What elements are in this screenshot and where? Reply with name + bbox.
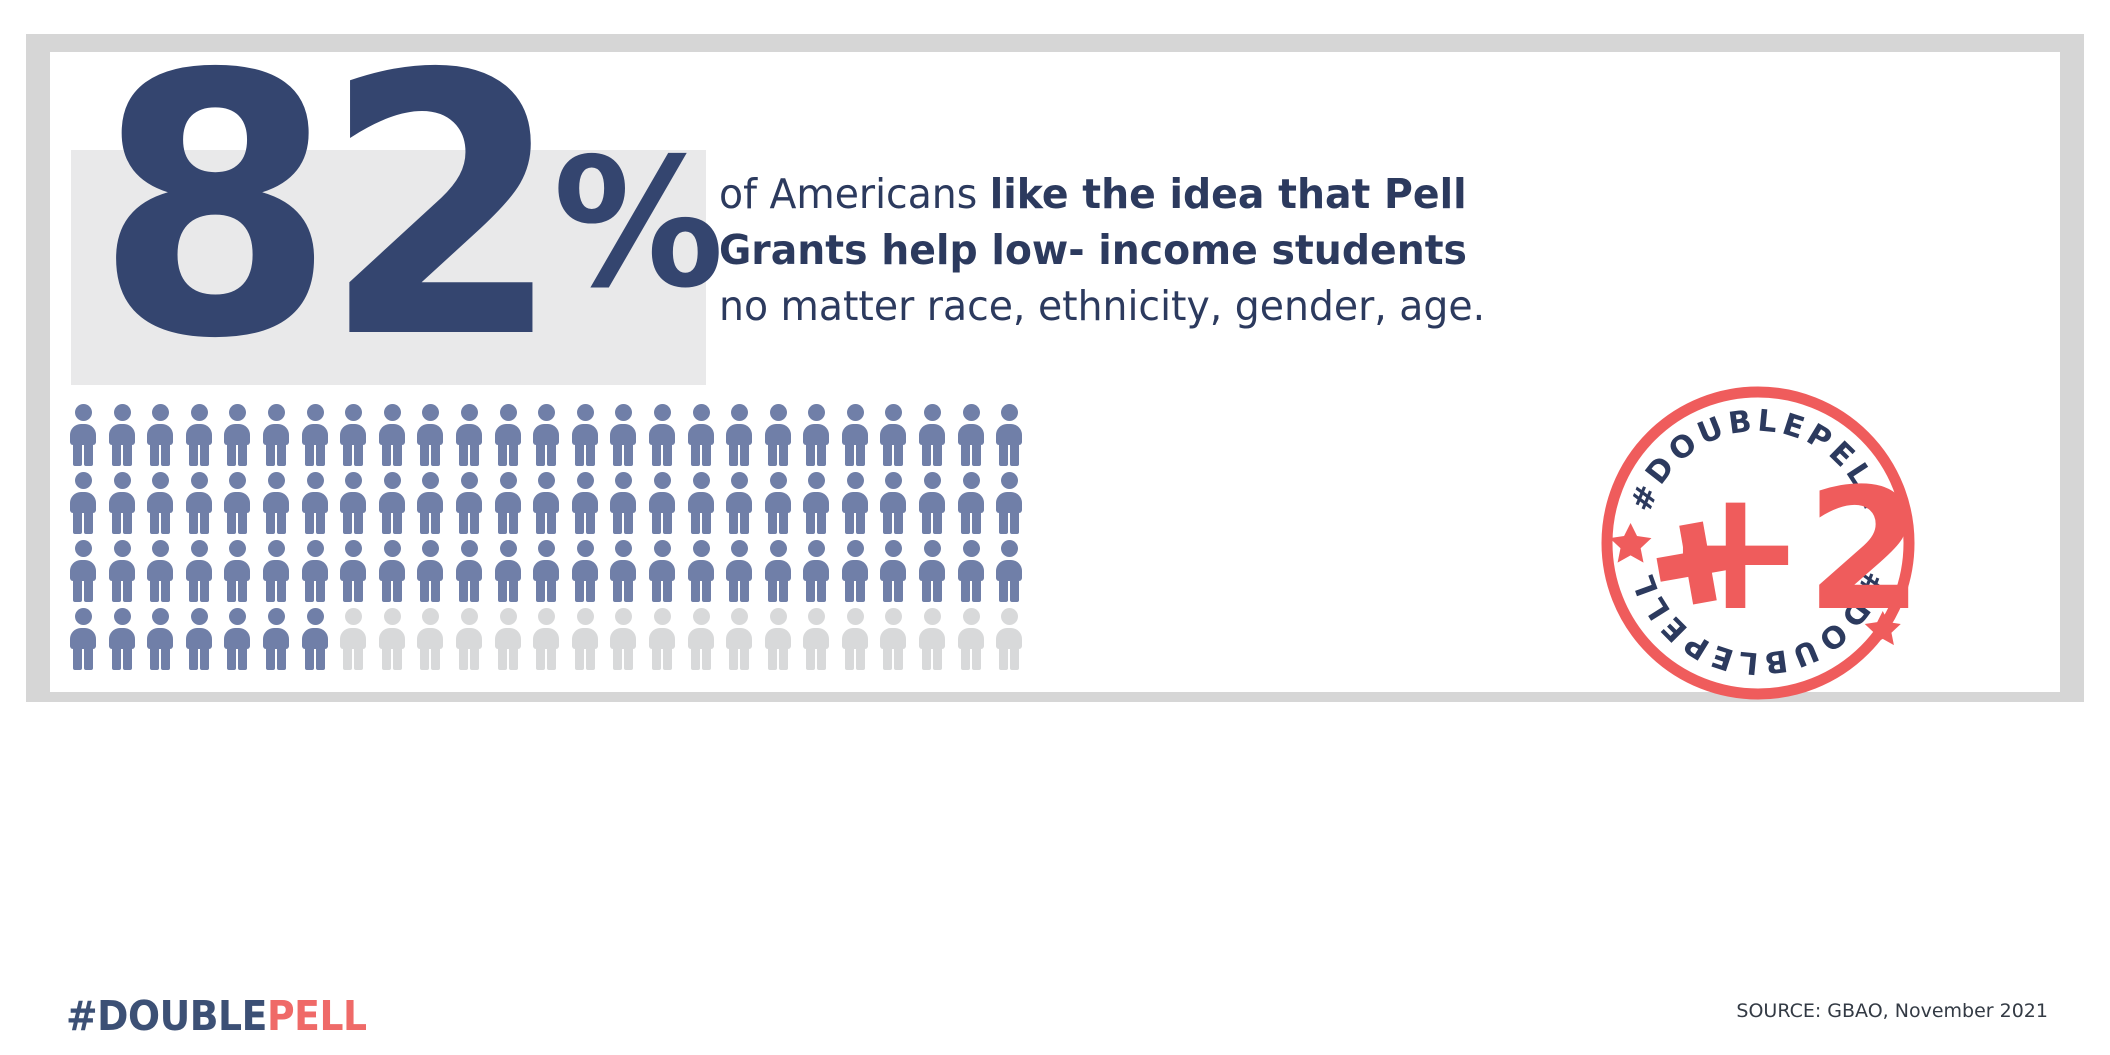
person-icon-filled — [878, 404, 908, 466]
person-icon-filled — [222, 540, 252, 602]
person-icon-filled — [377, 540, 407, 602]
pictogram-grid — [68, 404, 1033, 676]
person-icon-filled — [415, 404, 445, 466]
person-icon-empty — [377, 608, 407, 670]
doublepell-badge: #DOUBLEPELL #DOUBLEPELL +2 — [1598, 383, 1918, 703]
footer-logo-hash: #DOUBLE — [66, 992, 267, 1040]
headline-line-1-plain: of Americans — [719, 170, 990, 218]
person-icon-filled — [956, 472, 986, 534]
person-icon-filled — [724, 472, 754, 534]
person-icon-filled — [917, 404, 947, 466]
person-icon-filled — [493, 404, 523, 466]
person-icon-filled — [107, 472, 137, 534]
person-icon-filled — [493, 540, 523, 602]
headline-line-1-bold: like the idea that Pell — [990, 170, 1467, 218]
person-icon-filled — [840, 472, 870, 534]
person-icon-filled — [917, 540, 947, 602]
person-icon-filled — [493, 472, 523, 534]
person-icon-filled — [878, 540, 908, 602]
person-icon-filled — [724, 404, 754, 466]
person-icon-empty — [415, 608, 445, 670]
source-note: SOURCE: GBAO, November 2021 — [1736, 1000, 2048, 1022]
person-icon-filled — [686, 540, 716, 602]
person-icon-empty — [917, 608, 947, 670]
person-icon-filled — [994, 404, 1024, 466]
person-icon-filled — [107, 608, 137, 670]
person-icon-filled — [107, 540, 137, 602]
person-icon-filled — [222, 472, 252, 534]
footer-logo: #DOUBLEPELL — [66, 992, 367, 1040]
person-icon-filled — [377, 404, 407, 466]
person-icon-filled — [531, 540, 561, 602]
person-icon-filled — [145, 472, 175, 534]
person-icon-filled — [184, 472, 214, 534]
person-icon-filled — [261, 608, 291, 670]
person-icon-filled — [107, 404, 137, 466]
person-icon-filled — [956, 540, 986, 602]
person-icon-filled — [454, 404, 484, 466]
person-icon-filled — [608, 404, 638, 466]
person-icon-filled — [647, 472, 677, 534]
person-icon-filled — [184, 540, 214, 602]
person-icon-filled — [454, 540, 484, 602]
person-icon-filled — [647, 404, 677, 466]
person-icon-filled — [763, 472, 793, 534]
person-icon-filled — [570, 472, 600, 534]
person-icon-empty — [531, 608, 561, 670]
person-icon-empty — [686, 608, 716, 670]
person-icon-filled — [184, 608, 214, 670]
person-icon-filled — [222, 608, 252, 670]
person-icon-empty — [956, 608, 986, 670]
person-icon-filled — [222, 404, 252, 466]
person-icon-filled — [261, 540, 291, 602]
person-icon-filled — [261, 404, 291, 466]
person-icon-filled — [300, 608, 330, 670]
person-icon-filled — [338, 472, 368, 534]
person-icon-empty — [338, 608, 368, 670]
person-icon-filled — [300, 540, 330, 602]
person-icon-filled — [68, 472, 98, 534]
person-icon-filled — [415, 540, 445, 602]
person-icon-filled — [300, 472, 330, 534]
person-icon-empty — [801, 608, 831, 670]
person-icon-filled — [647, 540, 677, 602]
person-icon-empty — [878, 608, 908, 670]
person-icon-filled — [454, 472, 484, 534]
person-icon-filled — [184, 404, 214, 466]
person-icon-filled — [68, 608, 98, 670]
headline-line-2-bold: Grants help low- income students — [719, 226, 1467, 274]
person-icon-filled — [917, 472, 947, 534]
person-icon-filled — [68, 540, 98, 602]
person-icon-empty — [493, 608, 523, 670]
person-icon-filled — [994, 540, 1024, 602]
badge-star-left — [1610, 523, 1652, 563]
person-icon-filled — [686, 472, 716, 534]
person-icon-filled — [531, 404, 561, 466]
person-icon-filled — [608, 540, 638, 602]
person-icon-filled — [840, 404, 870, 466]
person-icon-filled — [840, 540, 870, 602]
person-icon-filled — [763, 540, 793, 602]
person-icon-filled — [415, 472, 445, 534]
person-icon-empty — [994, 608, 1024, 670]
headline-line-3: no matter race, ethnicity, gender, age. — [719, 278, 1420, 334]
person-icon-empty — [608, 608, 638, 670]
footer-logo-pell: PELL — [267, 992, 367, 1040]
person-icon-filled — [956, 404, 986, 466]
person-icon-empty — [724, 608, 754, 670]
person-icon-filled — [801, 540, 831, 602]
person-icon-filled — [570, 540, 600, 602]
person-icon-filled — [145, 404, 175, 466]
badge-center-label: +2 — [1665, 452, 1918, 648]
person-icon-filled — [261, 472, 291, 534]
headline-line-2: Grants help low- income students — [719, 222, 1420, 278]
headline-copy: of Americans like the idea that Pell Gra… — [719, 166, 1420, 334]
person-icon-filled — [763, 404, 793, 466]
person-icon-filled — [300, 404, 330, 466]
person-icon-filled — [377, 472, 407, 534]
person-icon-filled — [145, 540, 175, 602]
person-icon-filled — [338, 540, 368, 602]
person-icon-empty — [647, 608, 677, 670]
person-icon-filled — [531, 472, 561, 534]
person-icon-filled — [994, 472, 1024, 534]
person-icon-filled — [724, 540, 754, 602]
person-icon-filled — [338, 404, 368, 466]
person-icon-empty — [454, 608, 484, 670]
person-icon-filled — [570, 404, 600, 466]
stat-number: 82 — [95, 0, 549, 417]
person-icon-empty — [840, 608, 870, 670]
person-icon-filled — [878, 472, 908, 534]
headline-line-1: of Americans like the idea that Pell — [719, 166, 1420, 222]
person-icon-filled — [686, 404, 716, 466]
person-icon-empty — [763, 608, 793, 670]
person-icon-filled — [608, 472, 638, 534]
person-icon-filled — [801, 404, 831, 466]
person-icon-filled — [145, 608, 175, 670]
person-icon-filled — [801, 472, 831, 534]
stat-value: 82% — [95, 28, 716, 388]
person-icon-empty — [570, 608, 600, 670]
person-icon-filled — [68, 404, 98, 466]
infographic-root: 82% of Americans like the idea that Pell… — [0, 0, 2110, 1055]
stat-percent-sign: % — [553, 120, 720, 327]
